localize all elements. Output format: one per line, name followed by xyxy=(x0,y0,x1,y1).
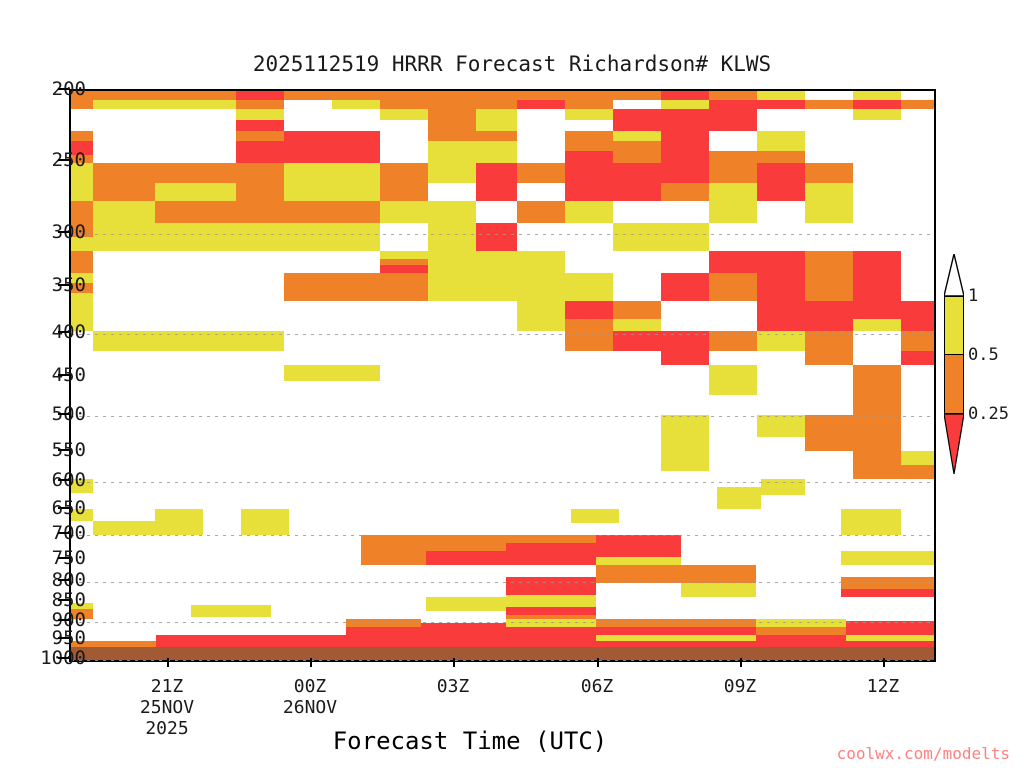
heatmap-cell xyxy=(613,319,661,331)
heatmap-cell xyxy=(757,223,805,251)
heatmap-cell xyxy=(853,251,901,273)
heatmap-cell xyxy=(846,635,934,641)
heatmap-cell xyxy=(380,331,428,365)
heatmap-cell xyxy=(846,621,934,635)
colorbar-arrow-lower xyxy=(944,414,964,474)
heatmap-cell xyxy=(380,301,428,331)
x-axis-tick-mark xyxy=(167,658,169,667)
heatmap-cell xyxy=(613,351,661,365)
heatmap-cell xyxy=(596,557,681,565)
heatmap-cell xyxy=(805,273,853,301)
heatmap-cell xyxy=(761,479,805,495)
x-axis-tick-mark xyxy=(310,658,312,667)
heatmap-cell xyxy=(236,351,284,365)
heatmap-cell xyxy=(93,201,155,223)
heatmap-cell xyxy=(853,120,934,131)
heatmap-cell xyxy=(236,109,284,120)
heatmap-cell xyxy=(284,365,380,381)
heatmap-cell xyxy=(709,183,757,201)
heatmap-cell xyxy=(841,509,901,535)
heatmap-cell xyxy=(565,251,613,273)
heatmap-cell xyxy=(236,223,284,251)
y-axis-tick-mark xyxy=(58,331,69,333)
heatmap-cell xyxy=(93,521,155,535)
heatmap-cell xyxy=(571,509,619,523)
heatmap-cell xyxy=(428,223,476,251)
colorbar: 10.50.25 xyxy=(944,296,964,474)
heatmap-cell xyxy=(565,273,613,301)
heatmap-cell xyxy=(93,365,236,415)
heatmap-cell xyxy=(901,109,934,120)
heatmap-cell xyxy=(284,381,380,415)
heatmap-cell xyxy=(191,605,271,617)
heatmap-cell xyxy=(613,141,661,163)
heatmap-cell xyxy=(93,131,236,163)
heatmap-cell xyxy=(596,635,756,641)
heatmap-cell xyxy=(596,619,756,627)
y-axis-tick-mark xyxy=(58,599,69,601)
heatmap-cell xyxy=(681,583,756,597)
heatmap-cell xyxy=(805,201,853,223)
heatmap-cell xyxy=(901,91,934,100)
heatmap-cell xyxy=(380,100,517,109)
heatmap-cell xyxy=(93,415,236,451)
heatmap-cell xyxy=(805,301,853,331)
heatmap-cell xyxy=(565,301,613,319)
heatmap-cell xyxy=(805,223,853,251)
heatmap-cell xyxy=(517,131,565,163)
heatmap-cell xyxy=(805,100,853,109)
heatmap-cell xyxy=(709,201,757,223)
heatmap-cell xyxy=(853,415,901,451)
heatmap-cell xyxy=(853,109,901,120)
heatmap-cell xyxy=(506,535,596,543)
heatmap-cell xyxy=(380,223,428,251)
heatmap-cell xyxy=(71,109,236,131)
heatmap-cell xyxy=(805,131,934,163)
heatmap-cell xyxy=(284,163,380,201)
heatmap-cell xyxy=(901,451,934,465)
heatmap-cell xyxy=(613,109,709,131)
heatmap-cell xyxy=(93,331,236,351)
heatmap-cell xyxy=(476,201,517,223)
heatmap-cell xyxy=(565,319,613,331)
heatmap-cell xyxy=(428,251,517,273)
y-axis-tick-mark xyxy=(58,657,69,659)
heatmap-cell xyxy=(140,91,236,100)
heatmap-cell xyxy=(332,100,380,109)
heatmap-cell xyxy=(757,151,805,163)
y-axis-tick-mark xyxy=(58,449,69,451)
heatmap-cell xyxy=(428,273,517,301)
heatmap-cell xyxy=(71,201,93,223)
heatmap-cell xyxy=(517,163,565,183)
heatmap-cell xyxy=(380,265,428,273)
heatmap-cell xyxy=(565,201,613,223)
heatmap-cell xyxy=(613,301,661,319)
colorbar-label: 0.25 xyxy=(968,404,1009,424)
heatmap-cell xyxy=(565,163,613,201)
heatmap-cell xyxy=(236,415,284,451)
heatmap-cell xyxy=(517,331,565,365)
heatmap-cell xyxy=(517,251,565,273)
heatmap-cell xyxy=(346,619,421,627)
heatmap-cell xyxy=(853,319,901,331)
heatmap-cell xyxy=(380,131,428,163)
heatmap-cell xyxy=(853,100,901,109)
heatmap-cell xyxy=(613,131,661,141)
y-axis-tick-mark xyxy=(58,557,69,559)
heatmap-cell xyxy=(236,251,284,273)
heatmap-cell xyxy=(236,91,284,100)
heatmap-cell xyxy=(661,301,709,331)
heatmap-cell xyxy=(155,201,236,223)
heatmap-cell xyxy=(757,273,805,301)
heatmap-cell xyxy=(853,331,901,365)
plot-area xyxy=(69,89,936,662)
heatmap-cell xyxy=(93,301,236,331)
y-axis-tick-mark xyxy=(58,284,69,286)
heatmap-cell xyxy=(428,163,476,183)
heatmap-cell xyxy=(853,163,934,201)
heatmap-cell xyxy=(93,183,155,201)
heatmap-cell xyxy=(757,251,805,273)
heatmap-cell xyxy=(901,415,934,451)
heatmap-cell xyxy=(805,183,853,201)
y-axis-tick-mark xyxy=(58,507,69,509)
heatmap-cell xyxy=(757,109,853,131)
heatmap-cell xyxy=(506,543,596,565)
heatmap-cell xyxy=(421,623,506,635)
heatmap-cell xyxy=(236,120,284,131)
heatmap-cell xyxy=(853,273,901,301)
heatmap-cell xyxy=(380,120,428,131)
heatmap-cell xyxy=(709,331,757,351)
heatmap-cell xyxy=(284,223,380,251)
heatmap-cell xyxy=(517,100,565,109)
heatmap-cell xyxy=(596,565,756,583)
x-axis-tick-label: 03Z xyxy=(437,676,470,697)
heatmap-cell xyxy=(284,100,332,109)
heatmap-cell xyxy=(428,183,476,201)
heatmap-cell xyxy=(661,131,709,163)
heatmap-cell xyxy=(236,273,284,301)
heatmap-cell xyxy=(517,415,565,451)
heatmap-cell xyxy=(236,100,284,109)
heatmap-cell xyxy=(841,577,934,589)
y-axis-tick-mark xyxy=(58,231,69,233)
x-axis-tick-label: 00Z26NOV xyxy=(283,676,337,718)
heatmap-cell xyxy=(709,109,757,131)
heatmap-cell xyxy=(757,201,805,223)
heatmap-cells xyxy=(71,91,934,660)
heatmap-cell xyxy=(506,577,596,595)
heatmap-cell xyxy=(428,109,476,131)
heatmap-cell xyxy=(901,331,934,351)
heatmap-cell xyxy=(517,183,565,201)
x-axis-tick-label: 21Z25NOV2025 xyxy=(140,676,194,739)
heatmap-cell xyxy=(709,163,757,183)
heatmap-cell xyxy=(709,395,757,415)
heatmap-cell xyxy=(284,251,380,273)
heatmap-cell xyxy=(565,120,613,131)
heatmap-cell xyxy=(661,273,709,301)
heatmap-cell xyxy=(380,365,428,415)
heatmap-cell xyxy=(853,365,901,415)
heatmap-cell xyxy=(506,619,596,627)
x-axis-tick-mark xyxy=(883,658,885,667)
heatmap-cell xyxy=(757,163,805,201)
heatmap-cell xyxy=(757,415,805,437)
heatmap-cell xyxy=(93,100,236,109)
heatmap-cell xyxy=(476,109,517,131)
colorbar-segment xyxy=(944,296,964,355)
heatmap-cell xyxy=(236,163,284,201)
heatmap-cell xyxy=(841,551,934,565)
heatmap-cell xyxy=(517,109,565,131)
heatmap-cell xyxy=(93,351,236,365)
heatmap-cell xyxy=(757,91,805,100)
heatmap-cell xyxy=(71,647,934,660)
heatmap-cell xyxy=(517,273,565,301)
heatmap-cell xyxy=(709,415,757,451)
heatmap-cell xyxy=(709,301,757,331)
heatmap-cell xyxy=(805,91,853,100)
heatmap-cell xyxy=(71,131,93,141)
heatmap-cell xyxy=(853,91,901,100)
y-axis-tick-mark xyxy=(58,619,69,621)
chart-title: 2025112519 HRRR Forecast Richardson# KLW… xyxy=(0,52,1024,76)
heatmap-cell xyxy=(661,251,709,273)
heatmap-cell xyxy=(476,163,517,201)
heatmap-cell xyxy=(661,183,709,201)
heatmap-cell xyxy=(380,273,428,301)
heatmap-cell xyxy=(565,351,613,365)
x-axis-tick-mark xyxy=(740,658,742,667)
heatmap-cell xyxy=(661,365,709,415)
heatmap-cell xyxy=(284,201,380,223)
heatmap-cell xyxy=(661,451,709,471)
heatmap-cell xyxy=(853,223,934,251)
colorbar-divider xyxy=(944,354,964,355)
heatmap-cell xyxy=(661,163,709,183)
heatmap-cell xyxy=(757,301,805,331)
heatmap-cell xyxy=(428,415,517,451)
heatmap-cell xyxy=(428,131,517,141)
heatmap-cell xyxy=(71,565,934,597)
colorbar-divider xyxy=(944,296,964,297)
colorbar-arrow-upper-outline xyxy=(944,254,964,296)
heatmap-cell xyxy=(901,465,934,479)
x-axis-tick-label: 09Z xyxy=(724,676,757,697)
heatmap-cell xyxy=(805,251,853,273)
heatmap-cell xyxy=(284,331,380,365)
heatmap-cell xyxy=(709,151,757,163)
heatmap-cell xyxy=(661,223,709,251)
heatmap-cell xyxy=(805,415,853,451)
y-axis-tick-mark xyxy=(58,159,69,161)
heatmap-cell xyxy=(613,331,661,351)
heatmap-cell xyxy=(565,223,613,251)
heatmap-cell xyxy=(565,109,613,120)
heatmap-cell xyxy=(426,597,506,611)
heatmap-cell xyxy=(93,273,236,301)
heatmap-cell xyxy=(71,451,934,479)
heatmap-cell xyxy=(517,365,565,415)
y-axis-tick-mark xyxy=(58,637,69,639)
heatmap-cell xyxy=(613,100,661,109)
heatmap-cell xyxy=(613,415,661,451)
heatmap-cell xyxy=(517,223,565,251)
x-axis-tick-mark xyxy=(597,658,599,667)
heatmap-cell xyxy=(565,100,613,109)
heatmap-cell xyxy=(93,223,236,251)
heatmap-cell xyxy=(709,223,757,251)
heatmap-cell xyxy=(236,331,284,351)
heatmap-cell xyxy=(565,415,613,451)
colorbar-segment xyxy=(944,355,964,414)
heatmap-cell xyxy=(380,415,428,451)
heatmap-cell xyxy=(709,100,805,109)
heatmap-cell xyxy=(661,91,709,100)
heatmap-cell xyxy=(901,365,934,415)
heatmap-cell xyxy=(613,365,661,415)
heatmap-cell xyxy=(155,509,203,535)
heatmap-cell xyxy=(517,201,565,223)
heatmap-cell xyxy=(284,91,661,100)
heatmap-cell xyxy=(709,251,757,273)
heatmap-cell xyxy=(805,331,853,365)
heatmap-cell xyxy=(517,301,565,331)
heatmap-cell xyxy=(284,301,380,331)
heatmap-cell xyxy=(380,109,428,120)
heatmap-cell xyxy=(155,183,236,201)
x-axis-tick-label: 12Z xyxy=(867,676,900,697)
heatmap-cell xyxy=(757,331,805,351)
heatmap-cell xyxy=(853,301,901,319)
heatmap-cell xyxy=(236,131,284,141)
heatmap-cell xyxy=(428,331,517,365)
heatmap-cell xyxy=(565,131,613,151)
heatmap-cell xyxy=(613,201,661,223)
heatmap-cell xyxy=(757,131,805,151)
heatmap-cell xyxy=(284,273,380,301)
heatmap-cell xyxy=(93,251,236,273)
heatmap-cell xyxy=(284,109,380,131)
heatmap-cell xyxy=(805,365,853,415)
chart-page: 2025112519 HRRR Forecast Richardson# KLW… xyxy=(0,0,1024,768)
heatmap-cell xyxy=(661,331,709,365)
heatmap-cell xyxy=(565,331,613,351)
x-axis-tick-label: 06Z xyxy=(581,676,614,697)
heatmap-cell xyxy=(853,201,934,223)
heatmap-cell xyxy=(506,597,596,607)
heatmap-cell xyxy=(428,301,517,331)
heatmap-cell xyxy=(709,273,757,301)
gridline xyxy=(71,660,934,661)
heatmap-cell xyxy=(901,273,934,301)
heatmap-cell xyxy=(236,201,284,223)
heatmap-cell xyxy=(284,131,380,163)
y-axis-tick-mark xyxy=(58,532,69,534)
heatmap-cell xyxy=(613,163,661,201)
y-axis-tick-mark xyxy=(58,413,69,415)
heatmap-cell xyxy=(284,415,380,451)
heatmap-cell xyxy=(901,251,934,273)
heatmap-cell xyxy=(709,365,757,395)
heatmap-cell xyxy=(661,415,709,451)
heatmap-cell xyxy=(717,487,761,509)
y-axis-tick-mark xyxy=(58,479,69,481)
y-axis-tick-mark xyxy=(58,579,69,581)
watermark: coolwx.com/modelts xyxy=(837,744,1010,763)
x-axis-tick-mark xyxy=(453,658,455,667)
heatmap-cell xyxy=(71,635,934,645)
heatmap-cell xyxy=(709,91,757,100)
heatmap-cell xyxy=(428,365,517,415)
heatmap-cell xyxy=(93,163,236,183)
heatmap-cell xyxy=(613,251,661,273)
heatmap-cell xyxy=(426,551,506,565)
heatmap-cell xyxy=(709,351,757,365)
heatmap-cell xyxy=(380,251,428,259)
heatmap-cell xyxy=(757,351,805,365)
colorbar-divider xyxy=(944,413,964,414)
heatmap-cell xyxy=(757,365,805,415)
heatmap-cell xyxy=(236,365,284,415)
heatmap-cell xyxy=(757,437,805,451)
heatmap-cell xyxy=(241,509,289,535)
heatmap-cell xyxy=(901,301,934,331)
heatmap-cell xyxy=(380,163,428,201)
heatmap-cell xyxy=(565,365,613,415)
heatmap-cell xyxy=(428,141,517,163)
heatmap-cell xyxy=(596,535,681,557)
colorbar-label: 0.5 xyxy=(968,345,999,365)
heatmap-cell xyxy=(661,100,709,109)
heatmap-cell xyxy=(476,223,517,251)
heatmap-cell xyxy=(236,301,284,331)
heatmap-cell xyxy=(236,141,284,163)
heatmap-cell xyxy=(71,100,93,109)
y-axis-tick-mark xyxy=(58,374,69,376)
heatmap-cell xyxy=(805,163,853,183)
heatmap-cell xyxy=(661,201,709,223)
heatmap-cell xyxy=(613,273,661,301)
heatmap-cell xyxy=(853,451,901,479)
y-axis-tick-mark xyxy=(58,88,69,90)
heatmap-cell xyxy=(613,223,661,251)
heatmap-cell xyxy=(901,351,934,365)
heatmap-cell xyxy=(901,100,934,109)
heatmap-cell xyxy=(71,251,93,273)
heatmap-cell xyxy=(565,151,613,163)
heatmap-cell xyxy=(709,131,757,151)
heatmap-cell xyxy=(380,201,476,223)
colorbar-label: 1 xyxy=(968,286,978,306)
heatmap-cell xyxy=(756,619,846,627)
